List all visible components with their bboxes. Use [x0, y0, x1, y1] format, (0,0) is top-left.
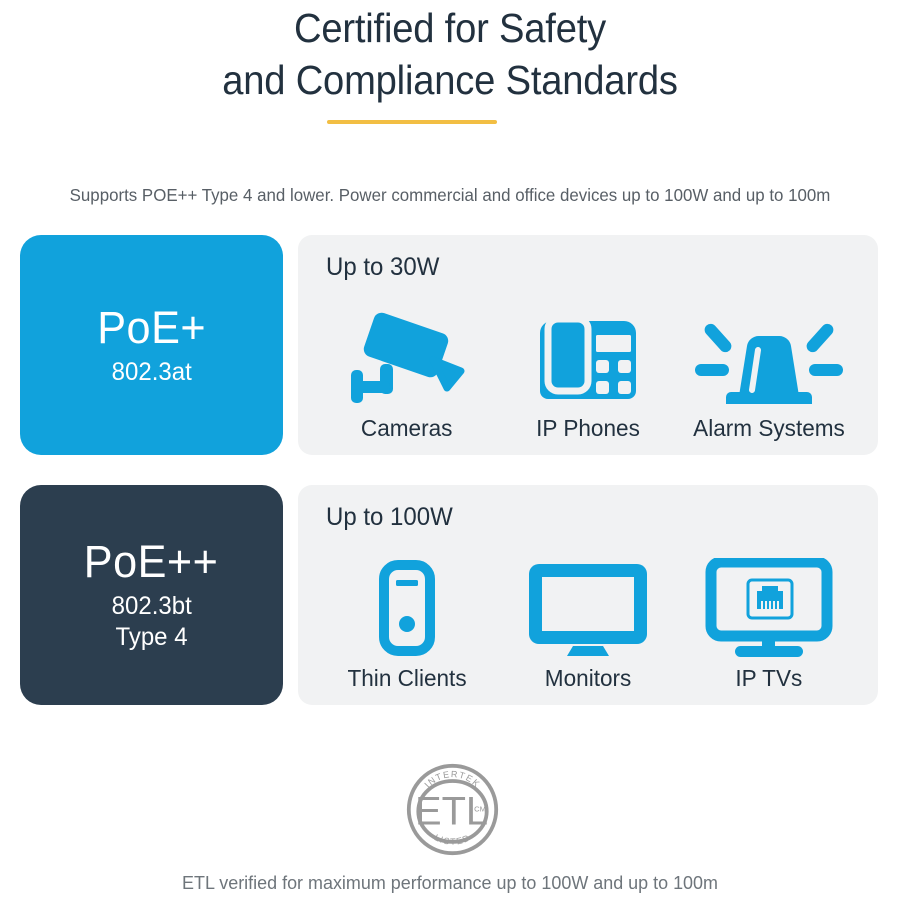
title-underline-rule	[327, 120, 497, 124]
device-item-monitors: Monitors	[497, 558, 678, 691]
ip-tv-icon	[705, 558, 833, 658]
monitor-art	[527, 558, 649, 658]
tier-name: PoE++	[84, 537, 219, 587]
footer-note-text: ETL verified for maximum performance up …	[14, 872, 887, 894]
device-icon-row: Cameras	[316, 293, 860, 441]
ip-tv-art	[705, 558, 833, 658]
panel-title-power: Up to 100W	[326, 503, 453, 532]
alarm-siren-art	[695, 308, 843, 408]
etl-certification-logo: INTERTEK LISTED ETL CM	[405, 762, 500, 857]
etl-listed-mark-icon: INTERTEK LISTED ETL CM	[405, 762, 500, 857]
thin-client-art	[379, 558, 435, 658]
security-camera-art	[349, 308, 465, 408]
device-panel-100w: Up to 100W Thin Clients	[298, 485, 878, 705]
device-item-alarm-systems: Alarm Systems	[679, 308, 860, 441]
device-panel-30w: Up to 30W	[298, 235, 878, 455]
tier-name: PoE+	[97, 303, 206, 353]
header-block: Certified for Safety and Compliance Stan…	[0, 0, 900, 105]
device-item-ip-phones: IP Phones	[497, 308, 678, 441]
tier-row-poe-plus-plus: PoE++ 802.3bt Type 4 Up to 100W Thin Cli…	[0, 485, 900, 705]
device-label: IP Phones	[536, 415, 640, 441]
device-item-cameras: Cameras	[316, 308, 497, 441]
page-title-line-1: Certified for Safety	[32, 0, 869, 53]
device-item-thin-clients: Thin Clients	[316, 558, 497, 691]
device-label: Alarm Systems	[693, 415, 845, 441]
tier-card-poe-plus: PoE+ 802.3at	[20, 235, 283, 455]
tier-standard: 802.3bt	[111, 591, 191, 622]
thin-client-icon	[379, 560, 435, 656]
device-label: Cameras	[361, 415, 453, 441]
tier-standard: 802.3at	[111, 357, 191, 388]
subtitle-text: Supports POE++ Type 4 and lower. Power c…	[16, 185, 885, 206]
tier-row-poe-plus: PoE+ 802.3at Up to 30W	[0, 235, 900, 455]
tier-card-poe-plus-plus: PoE++ 802.3bt Type 4	[20, 485, 283, 705]
panel-title-power: Up to 30W	[326, 253, 439, 282]
monitor-icon	[527, 560, 649, 656]
etl-bottom-arc-text: LISTED	[433, 832, 472, 847]
ip-phone-art	[536, 308, 640, 408]
device-icon-row: Thin Clients Monitors	[316, 543, 860, 691]
ip-phone-icon	[536, 313, 640, 403]
device-label: Thin Clients	[347, 665, 466, 691]
device-item-ip-tvs: IP TVs	[679, 558, 860, 691]
etl-superscript-text: CM	[474, 804, 486, 813]
alarm-siren-icon	[695, 312, 843, 404]
device-label: IP TVs	[736, 665, 803, 691]
security-camera-icon	[349, 312, 465, 404]
page-title-line-2: and Compliance Standards	[32, 53, 869, 105]
tier-type: Type 4	[115, 622, 187, 653]
device-label: Monitors	[545, 665, 632, 691]
